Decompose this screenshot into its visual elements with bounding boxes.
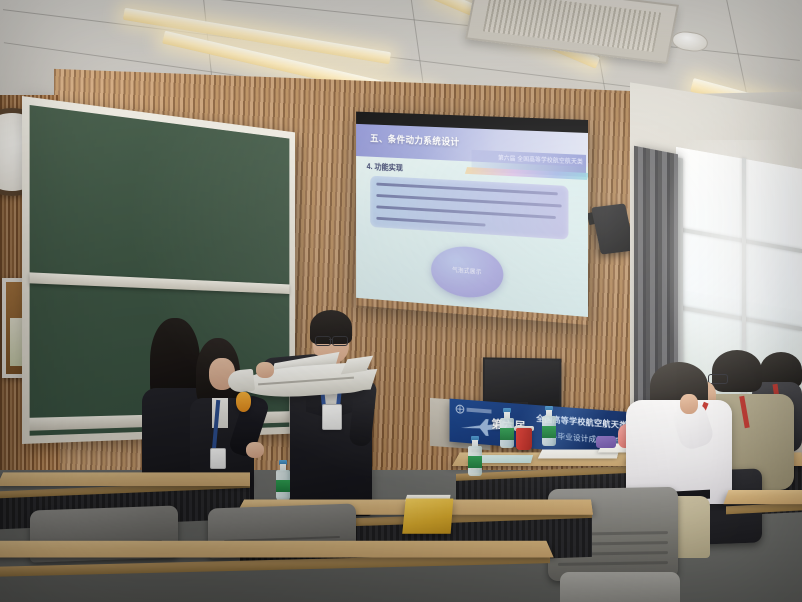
slide-ellipse-label: 气泡式展示: [431, 264, 503, 278]
slide-body-line: [376, 205, 556, 219]
orange-nose-cone: [236, 392, 251, 412]
slide-subtitle: 4. 功能实现: [367, 161, 403, 173]
glasses-icon: [332, 336, 348, 346]
presenter-id-badge: [322, 404, 342, 430]
judge-2-hair: [712, 350, 762, 392]
chair[interactable]: [560, 572, 680, 602]
tissue-box: [402, 499, 453, 534]
slide-ellipse-shape: 气泡式展示: [431, 244, 503, 300]
paper-cup: [516, 428, 532, 450]
presenter-hand: [256, 362, 274, 378]
front-table: [0, 541, 554, 558]
glasses-icon: [315, 336, 331, 346]
ceiling-tile-line: [2, 0, 800, 61]
slide-body-line: [376, 183, 557, 196]
slide-body-box: [370, 176, 568, 240]
classroom-scene: 2 3 4 五、条件动力系统设计 第六届 全国高等学校航空航天类 4. 功能实现: [0, 0, 802, 602]
slide-body-line: [376, 194, 561, 207]
student-b-hand: [246, 442, 264, 458]
purple-item: [596, 436, 616, 448]
slide-body-line: [376, 217, 485, 227]
side-table: [723, 490, 802, 504]
projection-screen: 五、条件动力系统设计 第六届 全国高等学校航空航天类 4. 功能实现 气泡式展示: [356, 112, 588, 325]
presentation-slide: 五、条件动力系统设计 第六届 全国高等学校航空航天类 4. 功能实现 气泡式展示: [356, 124, 588, 317]
back-table: [0, 472, 250, 486]
judge-1-hand: [680, 394, 698, 414]
student-b-id-badge: [210, 448, 226, 469]
glasses-bridge: [329, 339, 333, 340]
